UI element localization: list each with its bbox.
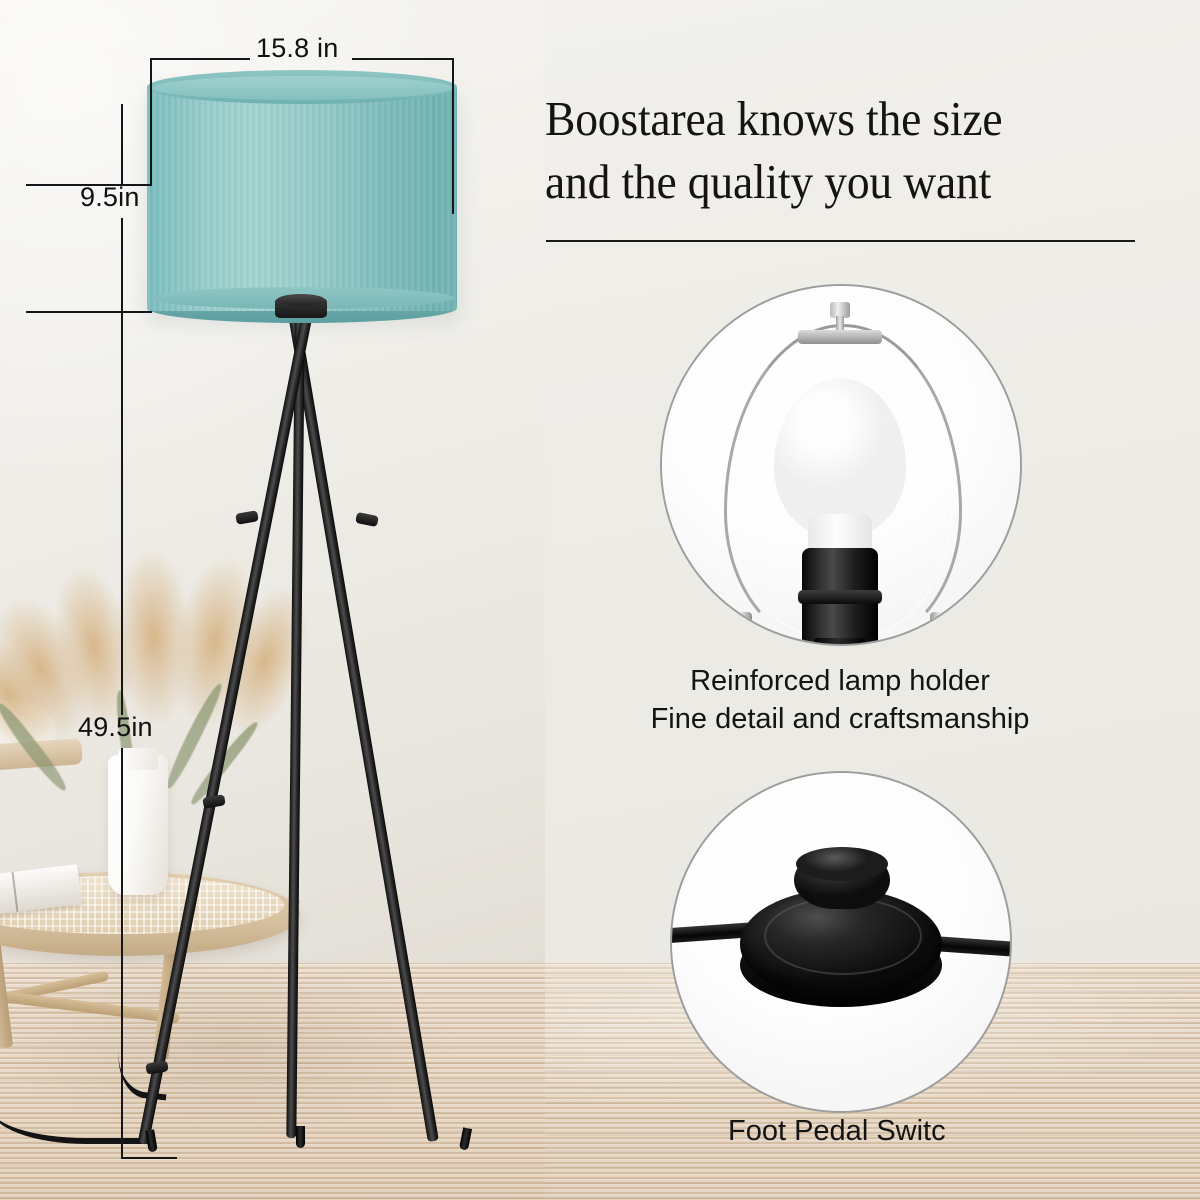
- socket-base: [814, 638, 866, 644]
- dim-width-line-left: [150, 58, 250, 60]
- lampshade: [147, 83, 457, 311]
- lampshade-top-rim: [152, 76, 452, 100]
- dim-width-line-right: [352, 58, 454, 60]
- power-cord: [0, 1082, 150, 1144]
- dim-shade-height-upper: [121, 104, 123, 184]
- dim-width-left-tick: [150, 58, 152, 184]
- dim-width-right-tick: [452, 58, 454, 214]
- headline-divider: [546, 240, 1135, 242]
- dim-total-height-upper: [121, 311, 123, 715]
- harp-clip-left: [730, 612, 752, 638]
- pedal-button-top[interactable]: [796, 847, 888, 881]
- dim-total-height-base-tick: [121, 1157, 177, 1159]
- dim-total-height-label: 49.5in: [78, 712, 153, 743]
- headline-line-2: and the quality you want: [545, 151, 1103, 214]
- caption-lamp-holder-line-2: Fine detail and craftsmanship: [590, 700, 1090, 738]
- harp-saddle: [798, 330, 882, 344]
- caption-foot-switch: Foot Pedal Switc: [600, 1112, 1200, 1150]
- white-vase-neck: [118, 748, 158, 770]
- caption-lamp-holder-line-1: Reinforced lamp holder: [590, 662, 1090, 700]
- leg-tip: [296, 1126, 305, 1148]
- caption-lamp-holder: Reinforced lamp holder Fine detail and c…: [590, 662, 1090, 739]
- dim-shade-height-label: 9.5in: [80, 182, 140, 213]
- harp-clip-right: [930, 612, 952, 638]
- headline: Boostarea knows the size and the quality…: [545, 88, 1103, 213]
- dim-total-height-lower: [121, 748, 123, 1158]
- dim-shade-height-lower: [121, 218, 123, 311]
- caption-foot-switch-line-1: Foot Pedal Switc: [728, 1112, 1200, 1150]
- tripod-hub-cap: [277, 294, 325, 306]
- dim-shade-bottom-extension: [26, 311, 152, 313]
- inset-foot-switch: [672, 773, 1010, 1111]
- product-infographic: 15.8 in 9.5in 49.5in Boostarea knows the…: [0, 0, 1200, 1200]
- inset-lamp-holder: [662, 286, 1020, 644]
- white-vase: [108, 755, 168, 895]
- dim-width-label: 15.8 in: [256, 33, 338, 64]
- headline-line-1: Boostarea knows the size: [545, 88, 1103, 151]
- socket-ring: [798, 590, 882, 604]
